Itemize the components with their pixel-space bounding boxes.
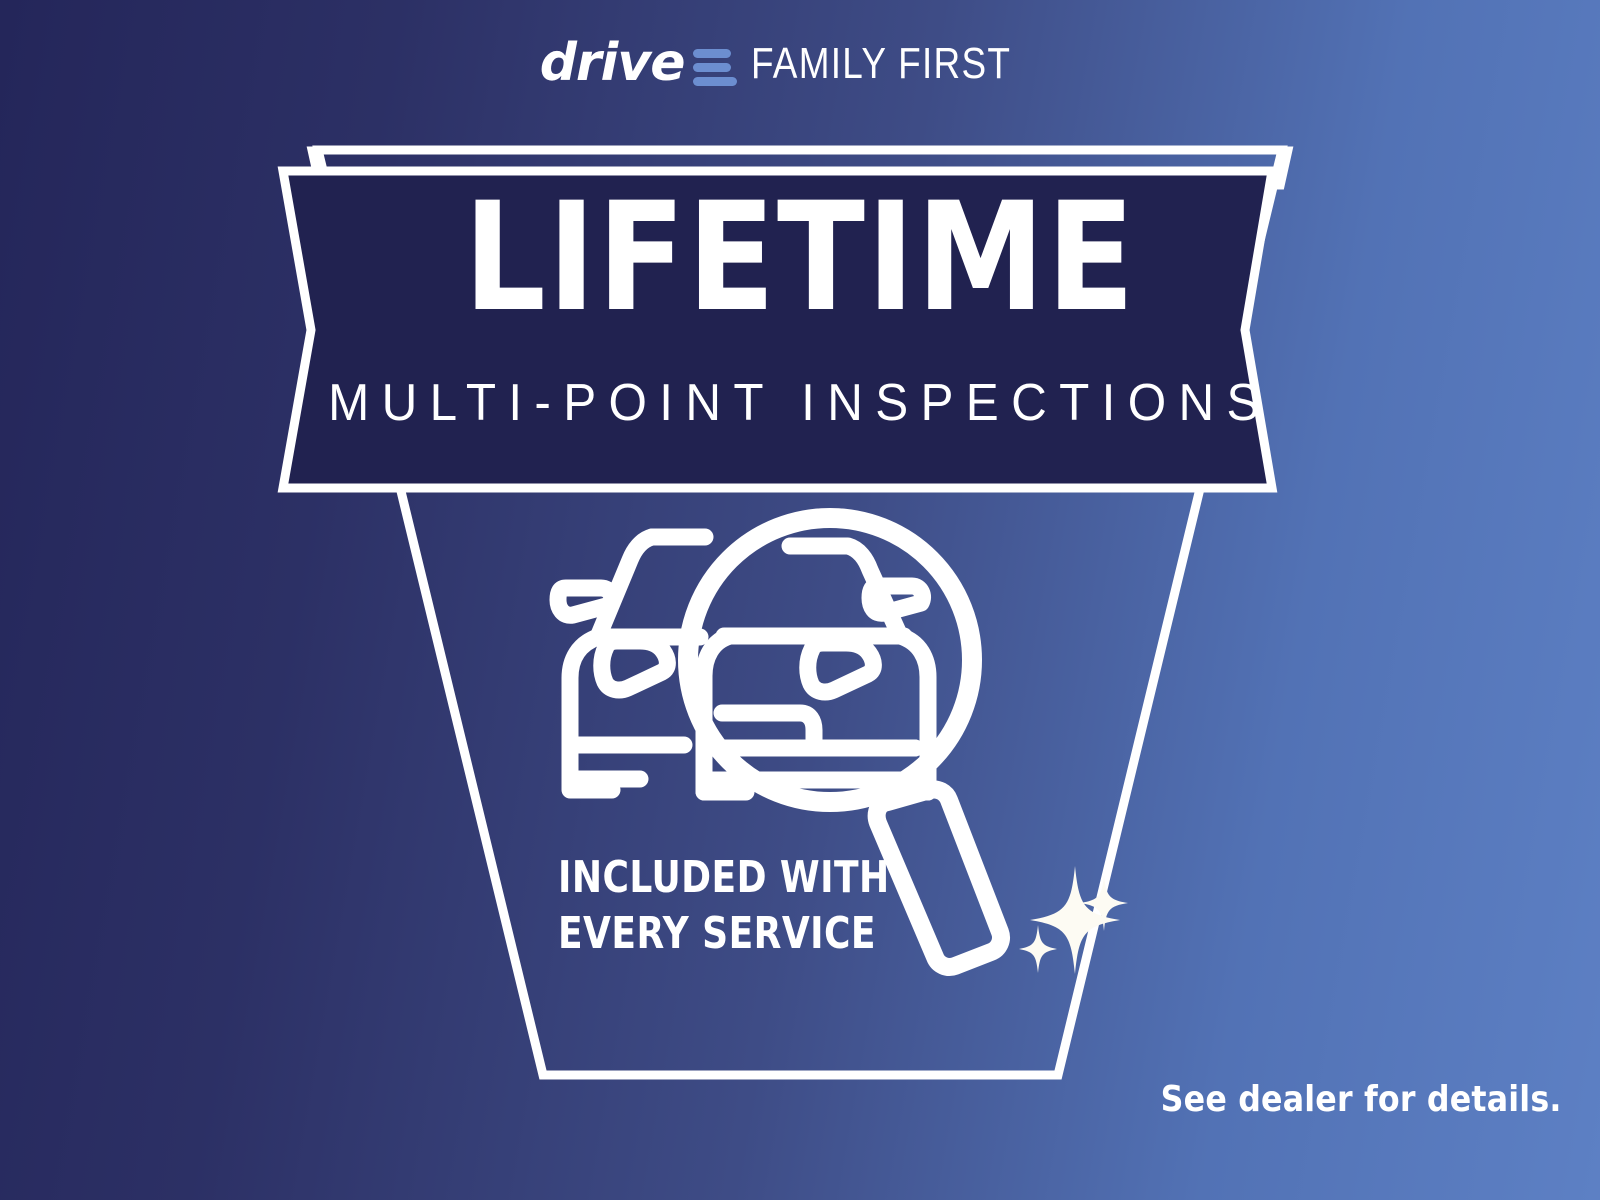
promo-body-copy: INCLUDED WITH EVERY SERVICE xyxy=(558,850,890,962)
promo-graphic: drive FAMILY FIRST LIFETIME MULTI-POINT … xyxy=(0,0,1600,1200)
sparkle-stars-icon xyxy=(1019,866,1128,974)
sparkle-large xyxy=(1030,866,1120,974)
disclaimer-text: See dealer for details. xyxy=(1161,1079,1562,1120)
sparkle-small xyxy=(1019,925,1057,973)
magnifier-lens xyxy=(688,518,972,802)
promo-body-line-1: INCLUDED WITH xyxy=(558,850,890,906)
brand-wordmark: drive xyxy=(540,37,685,89)
sparkle-medium xyxy=(1080,875,1128,931)
promo-body-line-2: EVERY SERVICE xyxy=(558,906,890,962)
brand-tagline: FAMILY FIRST xyxy=(751,39,1011,89)
brand-lockup: drive FAMILY FIRST xyxy=(0,34,1600,94)
magnifier-handle xyxy=(877,789,1001,967)
three-bars-icon xyxy=(693,49,737,86)
banner-headline: LIFETIME xyxy=(112,183,1488,333)
banner-subhead: MULTI-POINT INSPECTIONS xyxy=(40,374,1560,432)
